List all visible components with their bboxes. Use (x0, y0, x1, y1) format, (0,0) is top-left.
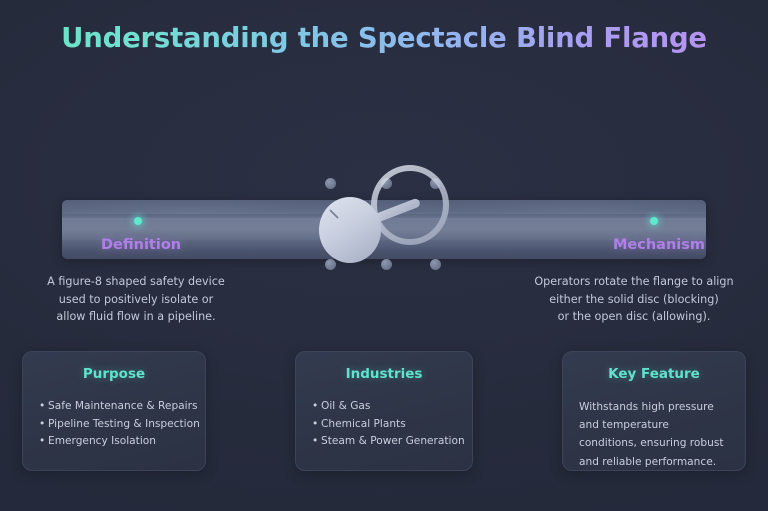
page-title: Understanding the Spectacle Blind Flange (0, 22, 768, 54)
list-item: Oil & Gas (312, 398, 456, 416)
mechanism-label: Mechanism (613, 237, 705, 253)
card-industries[interactable]: Industries Oil & Gas Chemical Plants Ste… (295, 351, 473, 471)
solid-blind-disc (319, 197, 381, 263)
list-item: Safe Maintenance & Repairs (39, 398, 189, 416)
card-key-feature[interactable]: Key Feature Withstands high pressure and… (562, 351, 746, 471)
infographic-canvas: Understanding the Spectacle Blind Flange (0, 0, 768, 511)
card-key-feature-body: Withstands high pressure and temperature… (579, 398, 729, 471)
card-industries-list: Oil & Gas Chemical Plants Steam & Power … (312, 398, 456, 451)
card-purpose-list: Safe Maintenance & Repairs Pipeline Test… (39, 398, 189, 451)
mechanism-description: Operators rotate the flange to align eit… (518, 273, 750, 326)
card-industries-title: Industries (312, 366, 456, 382)
card-purpose-title: Purpose (39, 366, 189, 382)
list-item: Emergency Isolation (39, 433, 189, 451)
definition-description: A figure-8 shaped safety device used to … (20, 273, 252, 326)
definition-label: Definition (101, 237, 181, 253)
mechanism-marker-dot (650, 217, 658, 225)
definition-marker-dot (134, 217, 142, 225)
card-purpose[interactable]: Purpose Safe Maintenance & Repairs Pipel… (22, 351, 206, 471)
card-key-feature-title: Key Feature (579, 366, 729, 382)
list-item: Steam & Power Generation (312, 433, 456, 451)
list-item: Pipeline Testing & Inspection (39, 416, 189, 434)
list-item: Chemical Plants (312, 416, 456, 434)
spectacle-blind-flange-icon (300, 160, 470, 275)
